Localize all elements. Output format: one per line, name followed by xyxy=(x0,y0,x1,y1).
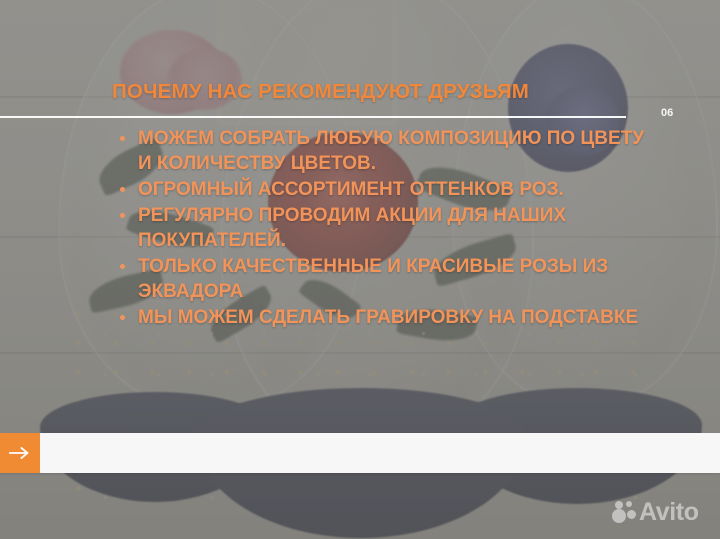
arrow-right-icon xyxy=(9,446,31,460)
slide: ПОЧЕМУ НАС РЕКОМЕНДУЮТ ДРУЗЬЯМ 06 МОЖЕМ … xyxy=(0,0,720,539)
page-number: 06 xyxy=(661,107,673,119)
list-item: РЕГУЛЯРНО ПРОВОДИМ АКЦИИ ДЛЯ НАШИХ ПОКУП… xyxy=(118,203,646,253)
page-title: ПОЧЕМУ НАС РЕКОМЕНДУЮТ ДРУЗЬЯМ xyxy=(112,80,672,104)
next-slide-button[interactable] xyxy=(0,433,40,473)
benefits-list: МОЖЕМ СОБРАТЬ ЛЮБУЮ КОМПОЗИЦИЮ ПО ЦВЕТУ … xyxy=(118,126,646,331)
list-item: МОЖЕМ СОБРАТЬ ЛЮБУЮ КОМПОЗИЦИЮ ПО ЦВЕТУ … xyxy=(118,126,646,176)
list-item: ТОЛЬКО КАЧЕСТВЕННЫЕ И КРАСИВЫЕ РОЗЫ ИЗ Э… xyxy=(118,254,646,304)
avito-watermark: Avito xyxy=(612,500,699,524)
avito-dots-logo xyxy=(612,500,636,524)
avito-wordmark: Avito xyxy=(639,500,699,524)
title-divider xyxy=(0,116,626,118)
list-item: МЫ МОЖЕМ СДЕЛАТЬ ГРАВИРОВКУ НА ПОДСТАВКЕ xyxy=(118,305,646,330)
list-item: ОГРОМНЫЙ АССОРТИМЕНТ ОТТЕНКОВ РОЗ. xyxy=(118,177,646,202)
footer-band xyxy=(0,433,720,473)
